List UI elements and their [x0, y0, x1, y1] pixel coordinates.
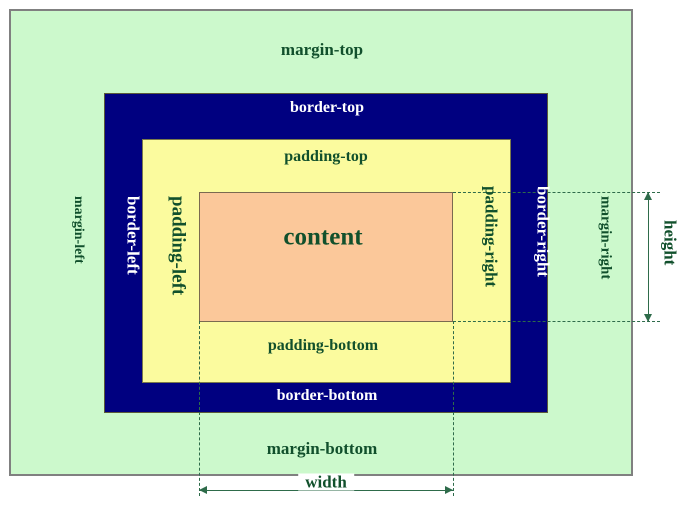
css-box-model-diagram: margin-top border-top padding-top conten…: [0, 0, 679, 517]
content-box: [199, 192, 453, 322]
label-padding-left: padding-left: [169, 196, 188, 295]
label-padding-right: padding-right: [483, 186, 500, 287]
label-height: height: [662, 220, 679, 265]
label-margin-right: margin-right: [598, 196, 613, 279]
height-arrow-down-icon: [644, 314, 652, 322]
label-border-bottom: border-bottom: [277, 388, 378, 404]
label-padding-bottom: padding-bottom: [268, 338, 378, 354]
label-border-right: border-right: [535, 186, 552, 277]
width-arrow-right-icon: [445, 486, 453, 494]
label-width: width: [298, 474, 354, 491]
label-margin-bottom: margin-bottom: [267, 440, 377, 457]
height-arrow-up-icon: [644, 192, 652, 200]
width-arrow-left-icon: [199, 486, 207, 494]
label-border-top: border-top: [290, 100, 364, 116]
label-border-left: border-left: [125, 196, 142, 275]
label-margin-top: margin-top: [281, 41, 363, 58]
guide-line-content-left: [199, 321, 200, 496]
height-measure-line: [648, 192, 649, 322]
label-padding-top: padding-top: [284, 149, 368, 165]
label-content: content: [283, 225, 362, 250]
guide-line-content-right: [453, 321, 454, 496]
guide-line-content-bottom: [453, 321, 660, 322]
label-margin-left: margin-left: [71, 196, 85, 264]
